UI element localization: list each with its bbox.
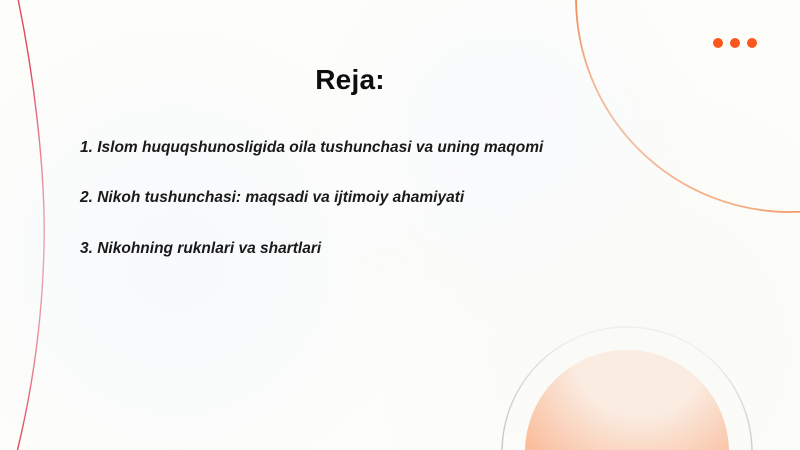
agenda-item-2: 2. Nikoh tushunchasi: maqsadi va ijtimoi… <box>80 188 700 207</box>
top-right-dot-row <box>713 36 759 50</box>
dot-1-icon <box>713 38 723 48</box>
agenda-list: 1. Islom huquqshunosligida oila tushunch… <box>80 138 700 258</box>
page-title: Reja: <box>0 64 700 96</box>
dot-3-icon <box>747 38 757 48</box>
agenda-item-1: 1. Islom huquqshunosligida oila tushunch… <box>80 138 700 157</box>
slide-content: Reja: 1. Islom huquqshunosligida oila tu… <box>0 0 800 450</box>
dot-2-icon <box>730 38 740 48</box>
slide-canvas: Reja: 1. Islom huquqshunosligida oila tu… <box>0 0 800 450</box>
agenda-item-3: 3. Nikohning ruknlari va shartlari <box>80 239 700 258</box>
